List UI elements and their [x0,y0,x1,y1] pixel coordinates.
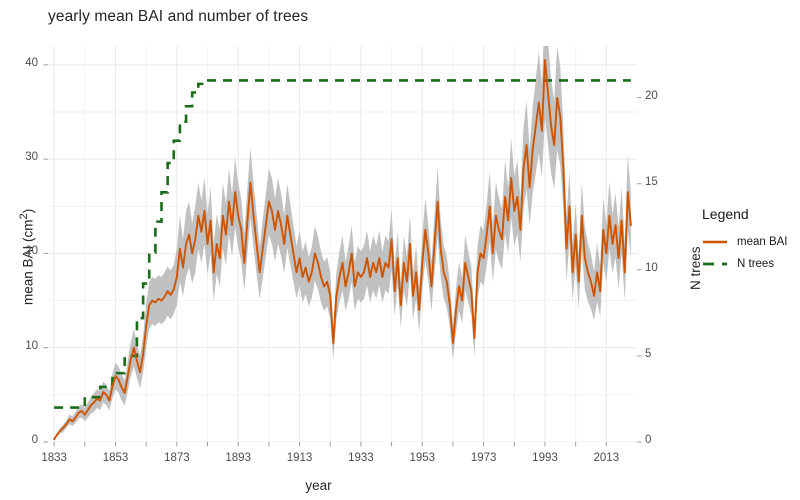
legend-item-mean-bai[interactable]: mean BAI [702,231,796,253]
y-right-tick-0: 0 [645,434,675,446]
x-tick-1933: 1933 [339,452,383,464]
y-left-tick-20: 20 [0,245,38,257]
y-left-tick-0: 0 [0,434,38,446]
legend: Legend mean BAI N trees [702,206,796,275]
y-right-tick-15: 15 [645,176,675,188]
x-tick-2013: 2013 [584,452,628,464]
y-left-tick-40: 40 [0,57,38,69]
y-axis-right-title: N trees [688,246,703,290]
legend-key-n-trees-icon [702,255,728,273]
plot-svg [48,46,637,442]
y-right-tick-10: 10 [645,262,675,274]
y-axis-left-title-text: mean BAI (cm [21,219,36,305]
y-right-tick-5: 5 [645,348,675,360]
y-axis-left-title-superscript: 2 [18,213,30,219]
x-tick-1873: 1873 [155,452,199,464]
legend-item-n-trees[interactable]: N trees [702,253,796,275]
x-axis-title: year [0,478,637,493]
legend-title: Legend [702,206,796,222]
legend-key-mean-bai-icon [702,233,728,251]
y-left-tick-30: 30 [0,151,38,163]
plot-panel [48,46,637,442]
x-tick-1853: 1853 [93,452,137,464]
y-right-tick-20: 20 [645,90,675,102]
y-axis-left-title-close: ) [21,209,36,214]
x-tick-1893: 1893 [216,452,260,464]
x-tick-1973: 1973 [462,452,506,464]
x-tick-1993: 1993 [523,452,567,464]
x-tick-1953: 1953 [400,452,444,464]
y-left-tick-10: 10 [0,340,38,352]
x-tick-1913: 1913 [278,452,322,464]
page-title: yearly mean BAI and number of trees [48,8,308,26]
legend-label-mean-bai: mean BAI [737,236,788,248]
chart-root: yearly mean BAI and number of trees mean… [0,0,800,500]
legend-label-n-trees: N trees [737,258,774,270]
x-tick-1833: 1833 [32,452,76,464]
